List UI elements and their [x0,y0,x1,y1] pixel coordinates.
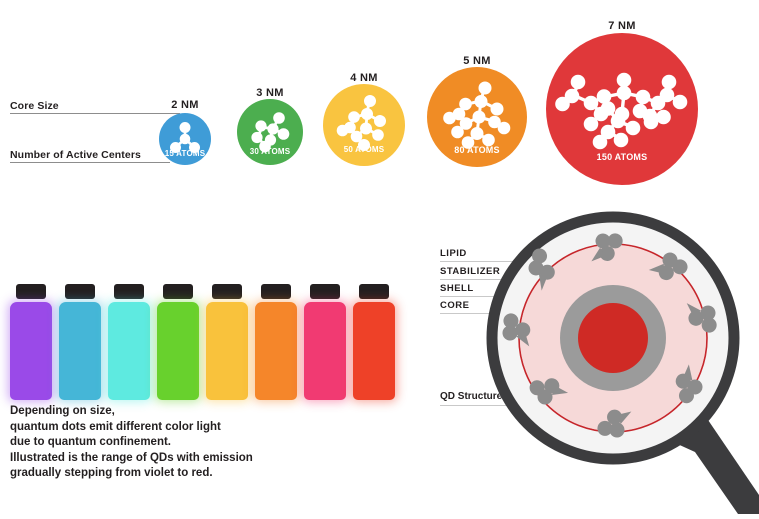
size-circle-4nm: 50 ATOMS [323,84,405,166]
vial-cap [212,284,242,299]
caption-block: Depending on size, quantum dots emit dif… [10,404,340,482]
vial-body [206,302,248,400]
size-circle-2nm: 15 ATOMS [159,113,211,165]
size-circle-5nm: 80 ATOMS [427,67,527,167]
vial-body [304,302,346,400]
caption-line-4: Illustrated is the range of QDs with emi… [10,451,340,467]
size-label-7nm: 7 NM [597,20,647,32]
vial-body [108,302,150,400]
qd-label-core: CORE [440,300,469,311]
caption-line-3: due to quantum confinement. [10,435,340,451]
row-label-active-centers: Number of Active Centers [10,149,141,161]
vial-cap [114,284,144,299]
molecule-icon-150-atoms [546,33,698,185]
atoms-label-4nm: 50 ATOMS [323,145,405,154]
atoms-label-2nm: 15 ATOMS [159,149,211,158]
qd-label-lipid: LIPID [440,248,467,259]
vial-cap [359,284,389,299]
caption-line-5: gradually stepping from violet to red. [10,466,340,482]
vial-cap [16,284,46,299]
qd-label-shell: SHELL [440,283,474,294]
core-layer [578,303,648,373]
vial-body [353,302,395,400]
vial-cap [163,284,193,299]
leader-line-core-size [10,113,180,114]
atoms-label-5nm: 80 ATOMS [427,145,527,155]
vial-cap [310,284,340,299]
vial-body [10,302,52,400]
magnifier-handle-shaft [688,417,759,514]
size-label-3nm: 3 NM [245,87,295,99]
size-circle-7nm: 150 ATOMS [546,33,698,185]
size-circle-3nm: 30 ATOMS [237,99,303,165]
size-label-5nm: 5 NM [452,55,502,67]
leader-line-active-centers [10,162,170,163]
atoms-label-3nm: 30 ATOMS [237,147,303,156]
vial-cap [65,284,95,299]
magnifier-graphic [480,205,759,514]
row-label-core-size: Core Size [10,100,59,112]
size-label-2nm: 2 NM [160,99,210,111]
caption-line-1: Depending on size, [10,404,340,420]
caption-line-2: quantum dots emit different color light [10,420,340,436]
magnifier-icon [480,205,759,514]
vial-body [157,302,199,400]
infographic-canvas: Core Size Number of Active Centers 2 NM … [0,0,759,514]
atoms-label-7nm: 150 ATOMS [546,152,698,162]
vial-body [59,302,101,400]
size-label-4nm: 4 NM [339,72,389,84]
vial-body [255,302,297,400]
vial-cap [261,284,291,299]
